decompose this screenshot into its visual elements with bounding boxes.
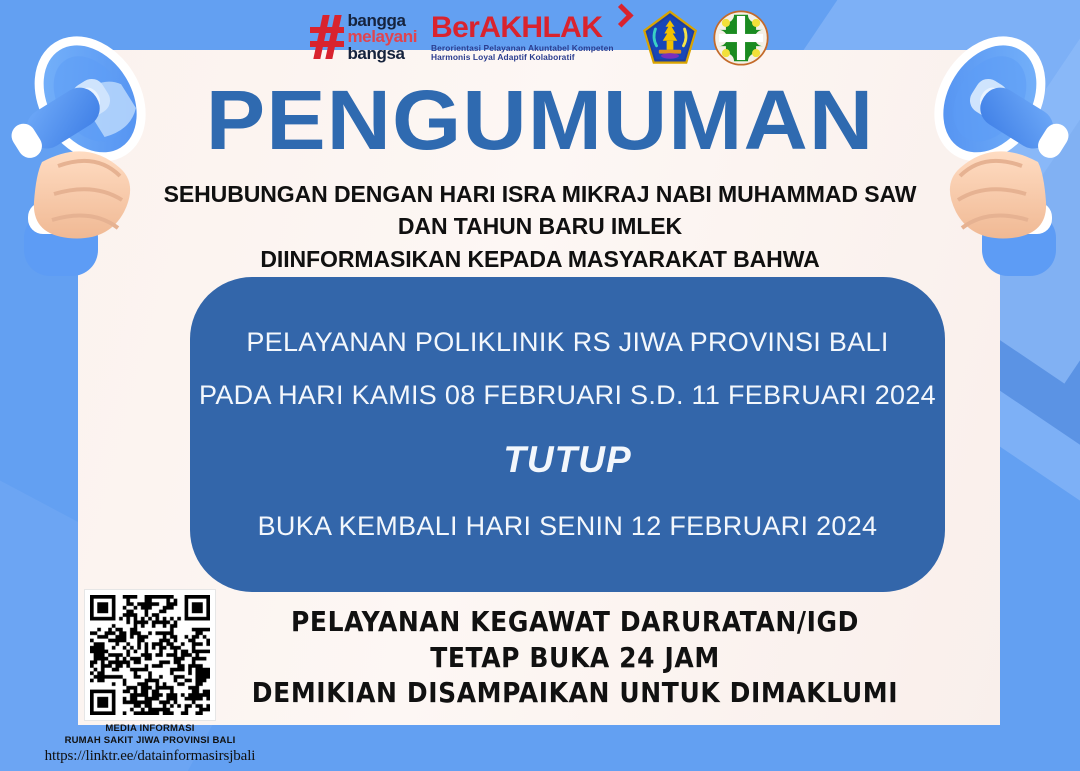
bmb-line-3: bangsa xyxy=(347,46,417,62)
footer-line-2: TETAP BUKA 24 JAM xyxy=(180,637,970,677)
notice-panel: PELAYANAN POLIKLINIK RS JIWA PROVINSI BA… xyxy=(190,277,945,592)
berakhlak-tagline-2: Harmonis Loyal Adaptif Kolaboratif xyxy=(431,53,614,62)
bangga-melayani-bangsa-logo: bangga melayani bangsa xyxy=(310,13,417,62)
bali-province-emblem-icon xyxy=(642,10,698,66)
subtitle-line-3: DIINFORMASIKAN KEPADA MASYARAKAT BAHWA xyxy=(128,243,951,275)
qr-caption-media: MEDIA INFORMASI xyxy=(25,723,275,735)
logo-strip: bangga melayani bangsa BerAKHLAK Berorie… xyxy=(0,0,1080,75)
panel-line-2: PADA HARI KAMIS 08 FEBRUARI S.D. 11 FEBR… xyxy=(199,382,936,409)
announcement-poster: bangga melayani bangsa BerAKHLAK Berorie… xyxy=(0,0,1080,771)
page-title: PENGUMUMAN xyxy=(0,78,1080,162)
footer-line-1: PELAYANAN KEGAWAT DARURATAN/IGD xyxy=(180,602,970,642)
subtitle-block: SEHUBUNGAN DENGAN HARI ISRA MIKRAJ NABI … xyxy=(120,178,960,275)
health-green-cross-icon xyxy=(712,9,770,67)
qr-caption-hospital: RUMAH SAKIT JIWA PROVINSI BALI xyxy=(25,735,275,747)
qr-url-link[interactable]: https://linktr.ee/datainformasirsjbali xyxy=(25,747,275,765)
qr-info-block: MEDIA INFORMASI RUMAH SAKIT JIWA PROVINS… xyxy=(25,589,275,765)
footer-line-3: DEMIKIAN DISAMPAIKAN UNTUK DIMAKLUMI xyxy=(180,673,970,713)
berakhlak-wordmark: BerAKHLAK xyxy=(431,13,614,43)
subtitle-line-2: DAN TAHUN BARU IMLEK xyxy=(128,210,951,242)
panel-line-3: BUKA KEMBALI HARI SENIN 12 FEBRUARI 2024 xyxy=(258,513,878,540)
panel-highlight-tutup: TUTUP xyxy=(503,441,631,478)
footer-notice-block: PELAYANAN KEGAWAT DARURATAN/IGD TETAP BU… xyxy=(180,604,970,711)
subtitle-line-1: SEHUBUNGAN DENGAN HARI ISRA MIKRAJ NABI … xyxy=(128,178,951,210)
hashtag-icon xyxy=(310,15,344,59)
qr-code-icon[interactable] xyxy=(84,589,216,721)
berakhlak-logo: BerAKHLAK Berorientasi Pelayanan Akuntab… xyxy=(431,13,628,62)
panel-line-1: PELAYANAN POLIKLINIK RS JIWA PROVINSI BA… xyxy=(246,329,888,356)
